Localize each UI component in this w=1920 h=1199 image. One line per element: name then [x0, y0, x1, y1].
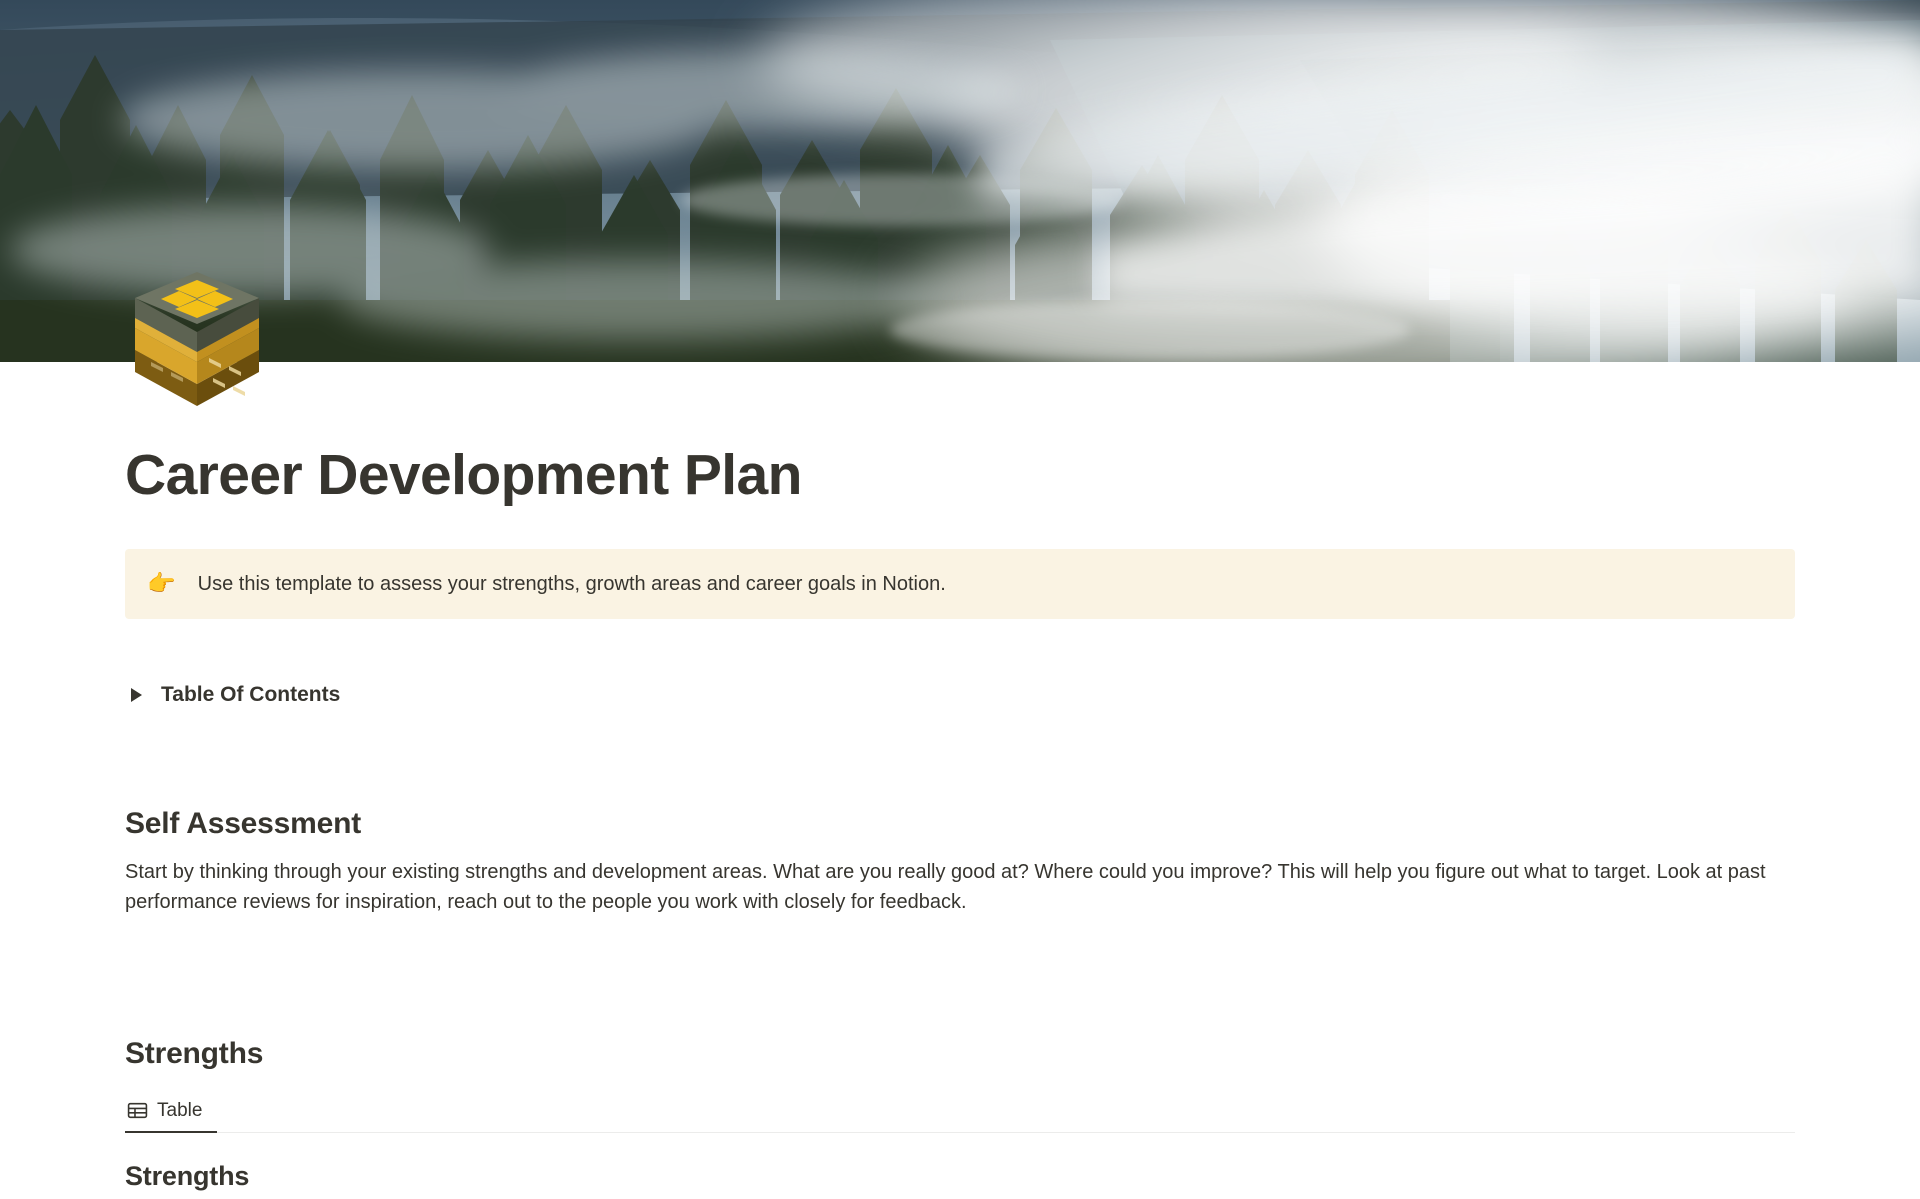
heading-strengths[interactable]: Strengths	[125, 1037, 1795, 1071]
callout-text: Use this template to assess your strengt…	[198, 569, 946, 599]
notion-page: Career Development Plan 👉 Use this templ…	[0, 0, 1920, 1199]
tab-table-view[interactable]: Table	[125, 1089, 210, 1132]
database-view-tabs: Table	[125, 1089, 1795, 1133]
page-content: Career Development Plan 👉 Use this templ…	[125, 362, 1795, 1192]
toggle-label: Table Of Contents	[161, 683, 340, 707]
self-assessment-paragraph[interactable]: Start by thinking through your existing …	[125, 857, 1795, 918]
page-icon[interactable]	[127, 272, 267, 412]
pointing-hand-emoji: 👉	[147, 572, 176, 595]
heading-self-assessment[interactable]: Self Assessment	[125, 807, 1795, 841]
page-title[interactable]: Career Development Plan	[125, 444, 1795, 507]
forest-cover-illustration	[0, 0, 1920, 362]
database-title[interactable]: Strengths	[125, 1161, 1795, 1192]
tab-label: Table	[157, 1100, 202, 1122]
table-of-contents-toggle[interactable]: Table Of Contents	[125, 677, 1795, 713]
isometric-block-x-icon	[127, 272, 267, 412]
chevron-right-icon[interactable]	[125, 684, 147, 706]
table-icon	[127, 1100, 148, 1121]
page-cover-image[interactable]	[0, 0, 1920, 362]
callout-block[interactable]: 👉 Use this template to assess your stren…	[125, 549, 1795, 619]
